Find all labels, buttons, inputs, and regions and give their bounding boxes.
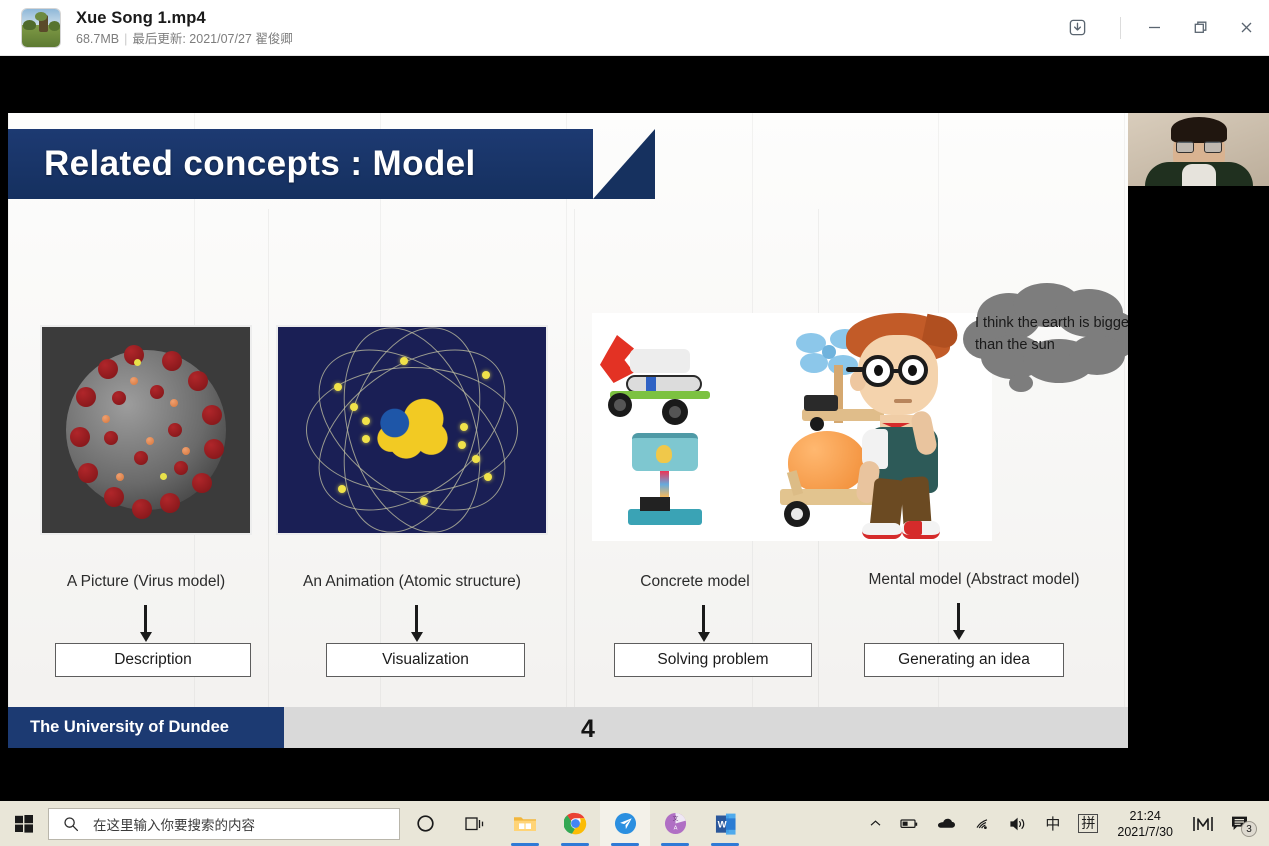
control-divider (1120, 17, 1121, 39)
arrow-down-3 (702, 605, 705, 633)
arrow-down-4 (957, 603, 960, 631)
column-caption-1: A Picture (Virus model) (40, 573, 252, 591)
system-tray: 中 拼 21:24 2021/7/30 3 (860, 801, 1269, 846)
cortana-icon[interactable] (400, 801, 450, 846)
window-title-bar: Xue Song 1.mp4 68.7MB|最后更新: 2021/07/27 翟… (0, 0, 1269, 56)
download-icon[interactable] (1054, 0, 1100, 56)
column-caption-2: An Animation (Atomic structure) (276, 573, 548, 591)
outcome-box-2: Visualization (326, 643, 525, 677)
meta-separator: | (124, 32, 127, 46)
column-caption-3: Concrete model (592, 573, 798, 591)
clock-time: 21:24 (1130, 808, 1161, 824)
file-info: Xue Song 1.mp4 68.7MB|最后更新: 2021/07/27 翟… (76, 8, 293, 48)
svg-text:W: W (717, 819, 726, 830)
file-explorer-icon[interactable] (500, 801, 550, 846)
chrome-icon[interactable] (550, 801, 600, 846)
svg-text:文: 文 (672, 815, 678, 823)
video-thumbnail (22, 9, 60, 47)
restore-icon[interactable] (1177, 0, 1223, 56)
outcome-box-3: Solving problem (614, 643, 812, 677)
arrow-down-2 (415, 605, 418, 633)
university-label: The University of Dundee (8, 707, 284, 748)
windows-taskbar: 在这里输入你要搜索的内容 (0, 801, 1269, 846)
svg-text:A: A (673, 825, 677, 831)
windows-start-icon[interactable] (0, 801, 48, 846)
outcome-box-1: Description (55, 643, 251, 677)
search-placeholder: 在这里输入你要搜索的内容 (93, 814, 255, 834)
arrow-down-1 (144, 605, 147, 633)
cloud-icon[interactable] (928, 801, 965, 846)
slide-title: Related concepts : Model (44, 144, 476, 184)
outcome-box-4: Generating an idea (864, 643, 1064, 677)
file-title: Xue Song 1.mp4 (76, 8, 293, 28)
coronavirus-image (40, 325, 252, 535)
column-divider (268, 209, 269, 714)
file-meta: 68.7MB|最后更新: 2021/07/27 翟俊卿 (76, 31, 293, 48)
volume-icon[interactable] (1000, 801, 1036, 846)
clock[interactable]: 21:24 2021/7/30 (1107, 801, 1183, 846)
presenter-webcam (1128, 113, 1269, 186)
column-caption-4: Mental model (Abstract model) (834, 571, 1114, 589)
slide-footer: 4 The University of Dundee (8, 707, 1128, 748)
ime-pinyin-indicator[interactable]: 拼 (1069, 801, 1107, 846)
ime-mode-indicator[interactable]: 中 (1036, 801, 1069, 846)
file-last-modified: 最后更新: 2021/07/27 翟俊卿 (132, 32, 292, 46)
m-tray-icon[interactable] (1183, 801, 1223, 846)
atom-animation (276, 325, 548, 535)
thought-bubble-text: I think the earth is bigger than the sun (975, 312, 1128, 356)
window-controls (1054, 0, 1269, 55)
notification-badge: 3 (1241, 821, 1257, 837)
presentation-slide: Related concepts : Model (8, 113, 1128, 748)
file-size: 68.7MB (76, 32, 119, 46)
battery-icon[interactable] (891, 801, 928, 846)
purple-app-icon[interactable]: 文 A (650, 801, 700, 846)
wifi-icon[interactable] (965, 801, 1000, 846)
minimize-icon[interactable] (1131, 0, 1177, 56)
notification-icon[interactable]: 3 (1223, 801, 1263, 846)
paper-plane-app-icon[interactable] (600, 801, 650, 846)
clock-date: 2021/7/30 (1117, 824, 1173, 840)
search-icon (63, 816, 79, 832)
column-divider (574, 209, 575, 714)
chevron-up-icon[interactable] (860, 801, 891, 846)
slide-title-banner: Related concepts : Model (8, 129, 593, 199)
word-icon[interactable]: W (700, 801, 750, 846)
close-icon[interactable] (1223, 0, 1269, 56)
video-player-area[interactable]: Related concepts : Model (0, 56, 1269, 801)
search-input[interactable]: 在这里输入你要搜索的内容 (48, 808, 400, 840)
task-view-icon[interactable] (450, 801, 500, 846)
thought-bubble: I think the earth is bigger than the sun (963, 283, 1128, 393)
